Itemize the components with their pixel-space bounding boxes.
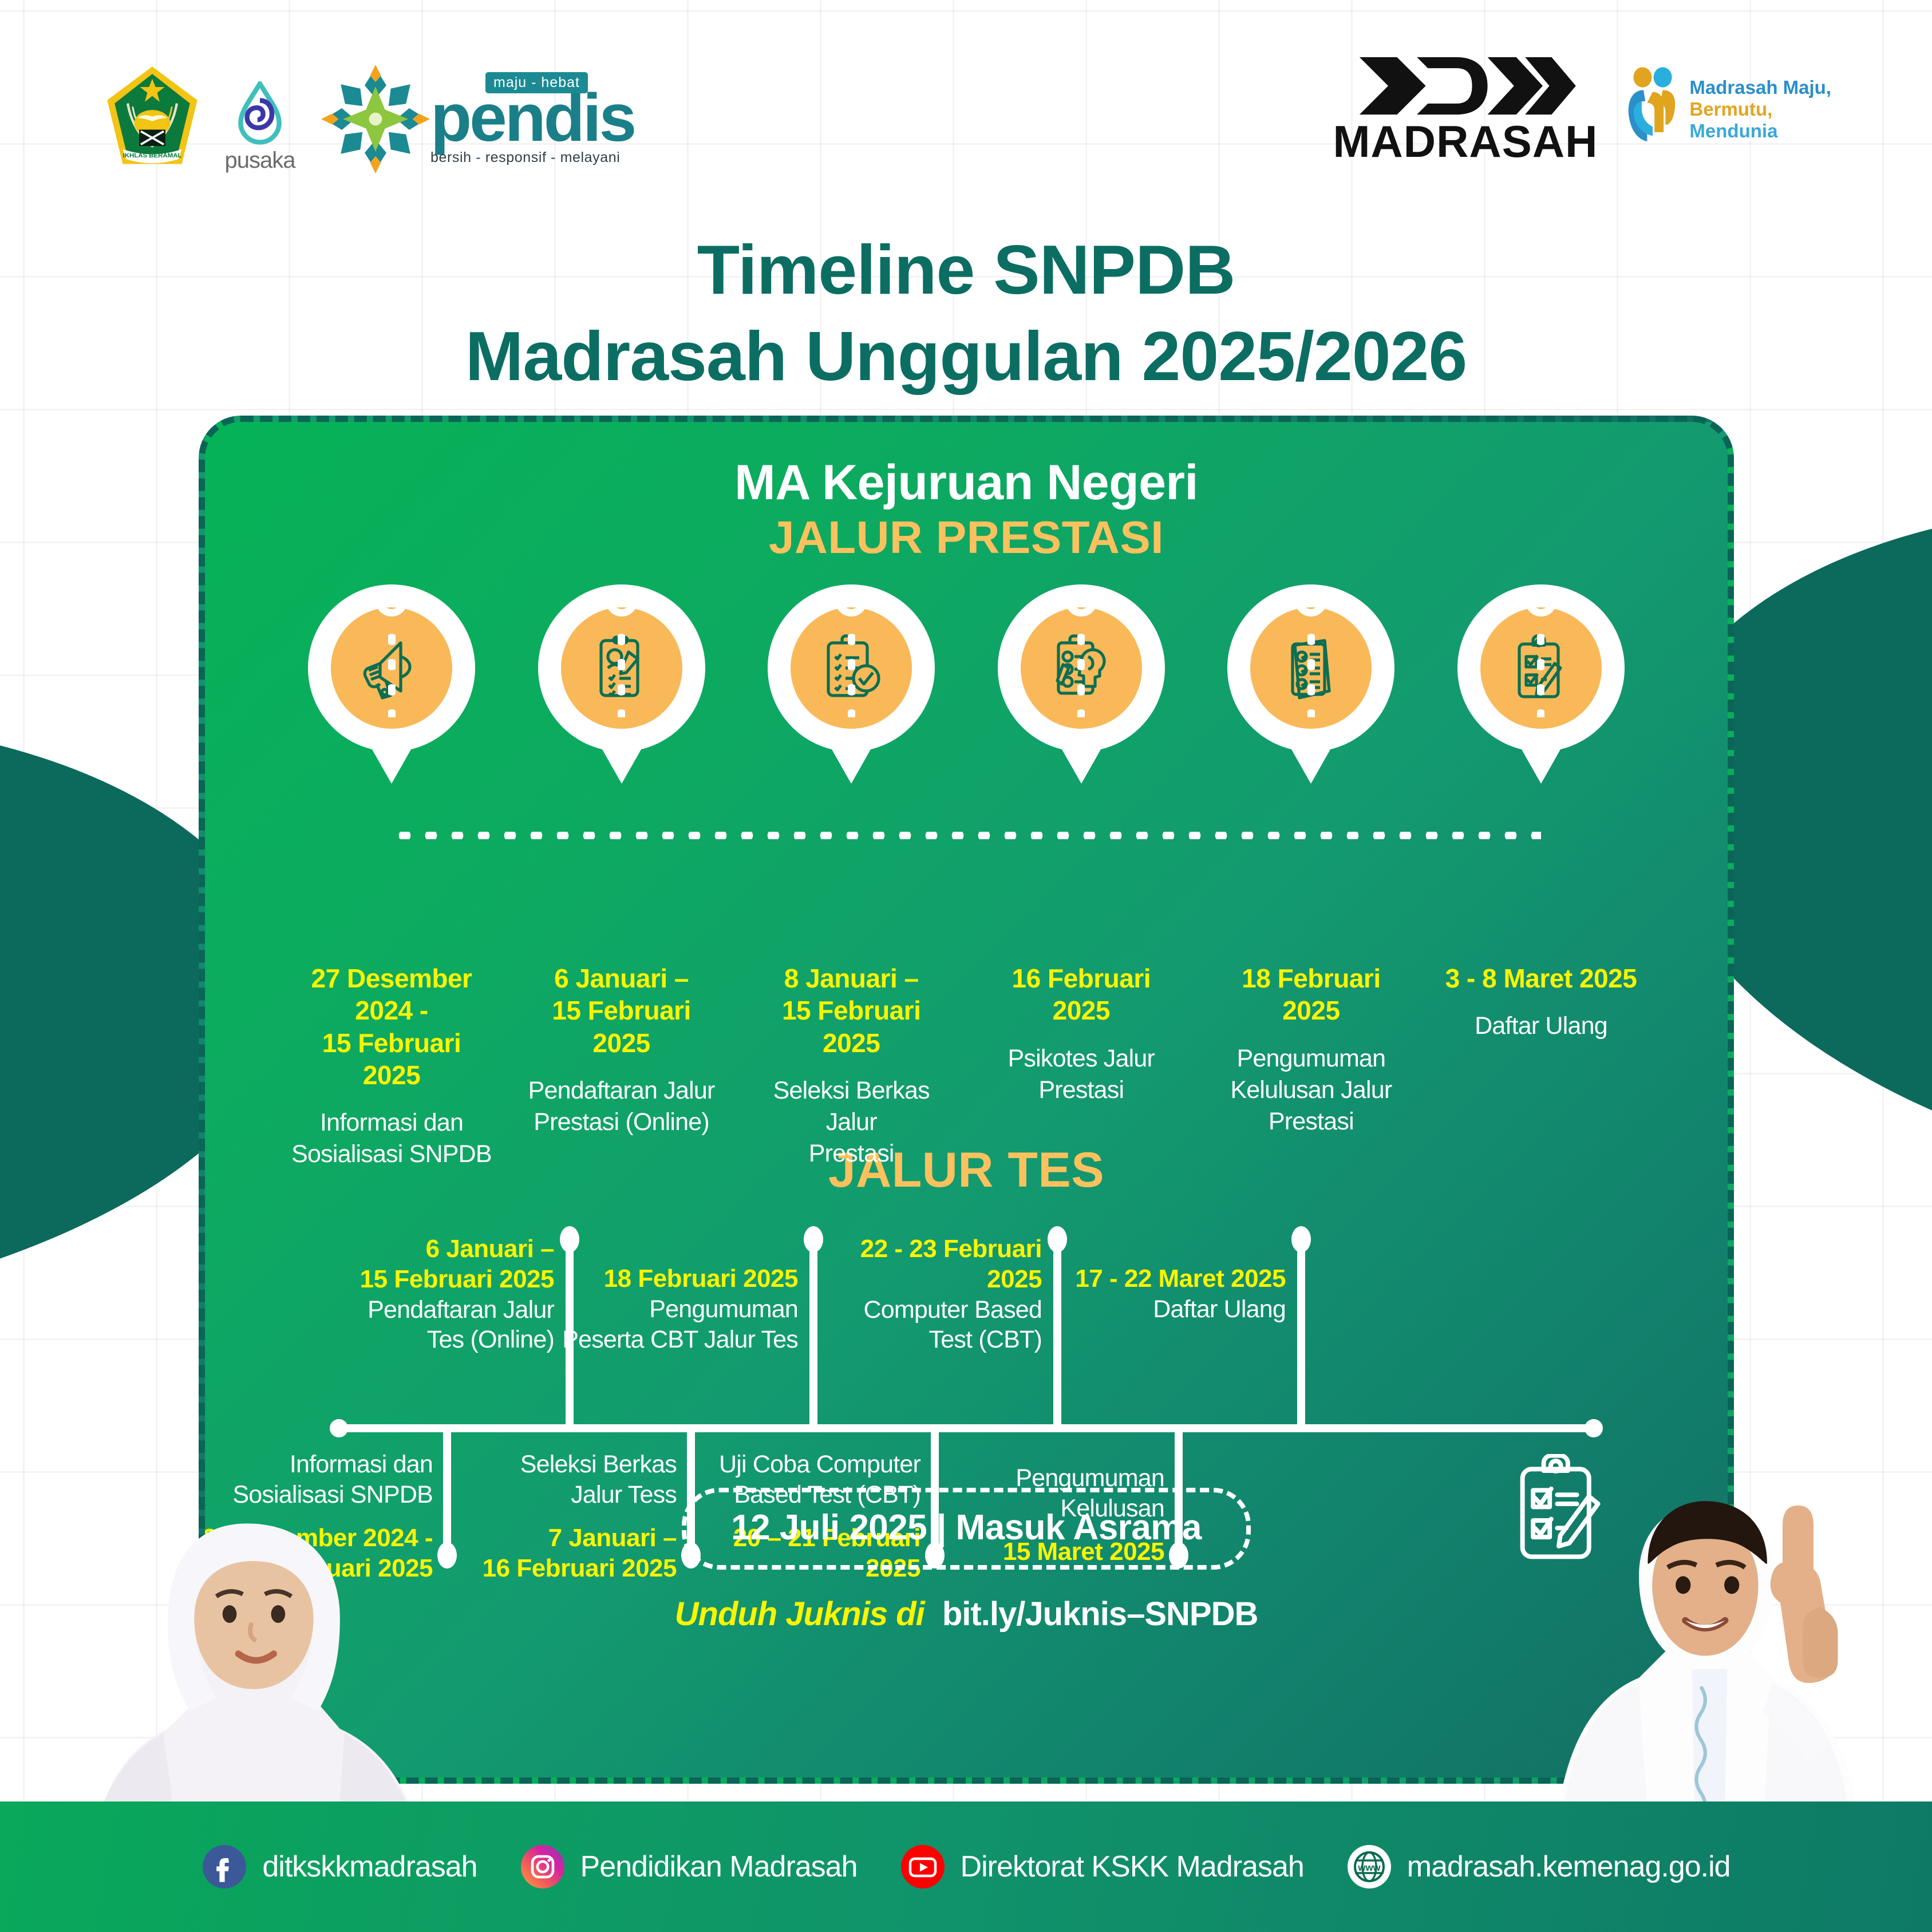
timeline-tes-rail bbox=[338, 1424, 1595, 1432]
tes-label-8: 17 - 22 Maret 2025 Daftar Ulang bbox=[1040, 1264, 1286, 1324]
page-title-line-1: Timeline SNPDB bbox=[0, 227, 1932, 313]
instagram-icon bbox=[520, 1844, 566, 1890]
node-stem bbox=[1537, 627, 1544, 717]
axis-dotted-line bbox=[392, 832, 1541, 839]
node-stem bbox=[618, 627, 625, 717]
label-desc: Seleksi Berkas JalurPrestasi bbox=[750, 1075, 952, 1170]
footer-label: madrasah.kemenag.go.id bbox=[1407, 1850, 1730, 1884]
pendis-badge: maju - hebat bbox=[485, 72, 588, 93]
section-header: MA Kejuruan Negeri JALUR PRESTASI bbox=[205, 455, 1728, 565]
label-date: 18 Februari 2025 bbox=[552, 1264, 798, 1294]
label-desc: Daftar Ulang bbox=[1040, 1294, 1286, 1324]
node-2 bbox=[538, 584, 705, 717]
youtube-icon bbox=[900, 1844, 946, 1890]
branch-tip bbox=[560, 1226, 579, 1253]
tagline-line-2: Bermutu, bbox=[1689, 98, 1831, 120]
branch-tip bbox=[1291, 1226, 1311, 1253]
pendis-tagline: bersih - responsif - melayani bbox=[430, 149, 634, 166]
svg-text:IKHLAS BERAMAL: IKHLAS BERAMAL bbox=[123, 152, 182, 159]
label-desc: Daftar Ulang bbox=[1440, 1010, 1642, 1042]
pusaka-flame-icon bbox=[236, 81, 284, 145]
node-stem bbox=[388, 627, 396, 717]
label-desc: PengumumanKelulusan JalurPrestasi bbox=[1210, 1043, 1412, 1137]
download-link[interactable]: bit.ly/Juknis–SNPDB bbox=[942, 1595, 1258, 1633]
label-date: 6 Januari –15 Februari 2025 bbox=[308, 1234, 554, 1295]
page-title-line-2: Madrasah Unggulan 2025/2026 bbox=[0, 313, 1932, 400]
kemenag-logo: IKHLAS BERAMAL bbox=[103, 64, 202, 173]
pendis-word: pendis bbox=[430, 89, 634, 148]
label-desc: Psikotes JalurPrestasi bbox=[981, 1043, 1182, 1106]
madrasah-people-icon bbox=[1625, 66, 1680, 153]
tes-label-6: 22 - 23 Februari2025 Computer BasedTest … bbox=[796, 1234, 1042, 1355]
label-date: 17 - 22 Maret 2025 bbox=[1040, 1264, 1286, 1294]
node-ring-icon bbox=[1525, 584, 1557, 617]
timeline-prestasi: 27 Desember 2024 -15 Februari 2025 Infor… bbox=[205, 584, 1728, 1157]
label-date: 6 Januari –15 Februari 2025 bbox=[521, 962, 722, 1058]
node-ring-icon bbox=[1065, 584, 1097, 617]
label-date: 16 Februari 2025 bbox=[981, 962, 1182, 1026]
label-date: 27 Desember 2024 -15 Februari 2025 bbox=[291, 962, 492, 1091]
madrasah-chevron-icon bbox=[1354, 55, 1577, 117]
label-date: 22 - 23 Februari2025 bbox=[796, 1234, 1042, 1295]
label-desc: Pendaftaran JalurPrestasi (Online) bbox=[521, 1075, 722, 1138]
branch-stem-8 bbox=[1297, 1246, 1305, 1429]
timeline-label-4: 16 Februari 2025 Psikotes JalurPrestasi bbox=[981, 962, 1182, 1170]
timeline-label-1: 27 Desember 2024 -15 Februari 2025 Infor… bbox=[291, 962, 492, 1170]
node-ring-icon bbox=[376, 584, 408, 617]
node-ring-icon bbox=[835, 584, 867, 617]
pendis-logo: maju - hebat pendis bersih - responsif -… bbox=[318, 65, 634, 173]
footer-item-instagram[interactable]: Pendidikan Madrasah bbox=[520, 1844, 858, 1890]
madrasah-tagline-logo: Madrasah Maju, Bermutu, Mendunia bbox=[1625, 66, 1831, 153]
header: IKHLAS BERAMAL pusaka bbox=[0, 0, 1932, 212]
label-desc: PengumumanPeserta CBT Jalur Tes bbox=[552, 1294, 798, 1354]
node-stem bbox=[848, 627, 855, 717]
footer-item-facebook[interactable]: ditkskkmadrasah bbox=[202, 1844, 477, 1890]
globe-www-icon: www bbox=[1346, 1844, 1392, 1890]
footer-label: ditkskkmadrasah bbox=[262, 1850, 477, 1884]
branch-tip bbox=[1048, 1226, 1067, 1253]
timeline-label-5: 18 Februari 2025 PengumumanKelulusan Jal… bbox=[1210, 962, 1412, 1170]
tagline-line-3: Mendunia bbox=[1689, 120, 1831, 142]
footer-item-youtube[interactable]: Direktorat KSKK Madrasah bbox=[900, 1844, 1304, 1890]
timeline-label-3: 8 Januari –15 Februari 2025 Seleksi Berk… bbox=[750, 962, 952, 1170]
tagline-line-1: Madrasah Maju, bbox=[1689, 77, 1831, 98]
node-1 bbox=[308, 584, 475, 717]
section-track-name: JALUR PRESTASI bbox=[205, 510, 1728, 565]
footer-label: Pendidikan Madrasah bbox=[580, 1850, 858, 1884]
pendis-wordmark: maju - hebat pendis bersih - responsif -… bbox=[430, 72, 634, 166]
timeline-label-6: 3 - 8 Maret 2025 Daftar Ulang bbox=[1440, 962, 1642, 1170]
pusaka-label: pusaka bbox=[225, 148, 295, 173]
node-4 bbox=[998, 584, 1165, 717]
node-stem bbox=[1077, 627, 1085, 717]
footer-item-website[interactable]: www madrasah.kemenag.go.id bbox=[1346, 1844, 1730, 1890]
node-5 bbox=[1227, 584, 1394, 717]
tes-label-2: 6 Januari –15 Februari 2025 Pendaftaran … bbox=[308, 1234, 554, 1355]
timeline-label-2: 6 Januari –15 Februari 2025 Pendaftaran … bbox=[521, 962, 722, 1170]
label-date: 3 - 8 Maret 2025 bbox=[1440, 962, 1642, 994]
page-title: Timeline SNPDB Madrasah Unggulan 2025/20… bbox=[0, 227, 1932, 400]
label-date: 18 Februari 2025 bbox=[1210, 962, 1412, 1026]
tes-label-4: 18 Februari 2025 PengumumanPeserta CBT J… bbox=[552, 1264, 798, 1354]
label-desc: Computer BasedTest (CBT) bbox=[796, 1295, 1042, 1355]
madrasah-tagline-text: Madrasah Maju, Bermutu, Mendunia bbox=[1689, 77, 1831, 143]
section-school-name: MA Kejuruan Negeri bbox=[205, 455, 1728, 510]
download-prefix: Unduh Juknis di bbox=[675, 1595, 924, 1633]
node-ring-icon bbox=[606, 584, 638, 617]
label-desc: Informasi danSosialisasi SNPDB bbox=[291, 1107, 492, 1170]
madrasah-logo: MADRASAH bbox=[1333, 55, 1598, 164]
pendis-ornament-icon bbox=[318, 65, 433, 173]
label-desc: Pendaftaran JalurTes (Online) bbox=[308, 1295, 554, 1355]
timeline-prestasi-axis bbox=[205, 821, 1728, 825]
node-stem bbox=[1307, 627, 1315, 717]
madrasah-word: MADRASAH bbox=[1333, 119, 1598, 164]
footer-social-bar: ditkskkmadrasah Pendidikan Madrasah bbox=[0, 1801, 1932, 1932]
label-date: 8 Januari –15 Februari 2025 bbox=[750, 962, 952, 1058]
node-6 bbox=[1457, 584, 1625, 717]
svg-text:www: www bbox=[1357, 1862, 1381, 1873]
timeline-prestasi-nodes bbox=[205, 584, 1728, 717]
header-logos-right: MADRASAH Madrasah Maju, Bermutu, Menduni… bbox=[1333, 55, 1831, 164]
node-ring-icon bbox=[1295, 584, 1327, 617]
footer-label: Direktorat KSKK Madrasah bbox=[961, 1850, 1304, 1884]
facebook-icon bbox=[202, 1844, 247, 1890]
node-3 bbox=[768, 584, 935, 717]
header-logos-left: IKHLAS BERAMAL pusaka bbox=[103, 64, 634, 173]
kemenag-crest-icon: IKHLAS BERAMAL bbox=[103, 64, 202, 171]
pusaka-logo: pusaka bbox=[216, 81, 303, 173]
asrama-pill: 12 Juli 2025 | Masuk Asrama bbox=[682, 1488, 1251, 1570]
timeline-prestasi-labels: 27 Desember 2024 -15 Februari 2025 Infor… bbox=[205, 962, 1728, 1170]
